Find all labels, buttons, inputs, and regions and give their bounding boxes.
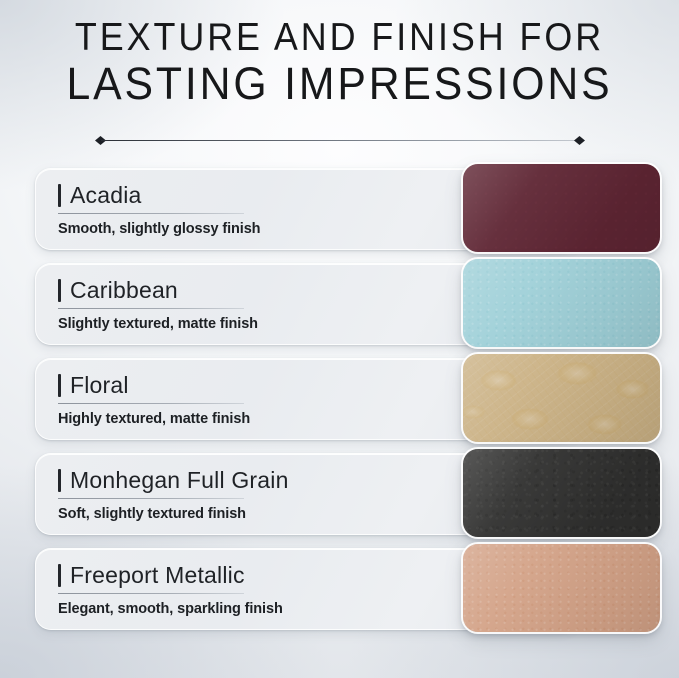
list-item: FloralHighly textured, matte finish: [0, 358, 679, 438]
list-item: CaribbeanSlightly textured, matte finish: [0, 263, 679, 343]
accent-bar-icon: [58, 279, 61, 302]
swatch-name: Freeport Metallic: [70, 562, 245, 589]
accent-bar-icon: [58, 184, 61, 207]
title-underline: [58, 498, 244, 499]
divider-rule: [101, 140, 579, 141]
swatch-list: AcadiaSmooth, slightly glossy finishCari…: [0, 168, 679, 643]
swatch-sheen-overlay: [463, 354, 660, 442]
freeport-metallic-rose-leather-swatch[interactable]: [463, 544, 660, 632]
accent-bar-icon: [58, 469, 61, 492]
list-item: AcadiaSmooth, slightly glossy finish: [0, 168, 679, 248]
swatch-sheen-overlay: [463, 544, 660, 632]
monhegan-full-grain-black-leather-swatch[interactable]: [463, 449, 660, 537]
page-title-line-2: LASTING IMPRESSIONS: [17, 61, 662, 108]
header: TEXTURE AND FINISH FOR LASTING IMPRESSIO…: [0, 18, 679, 107]
title-underline: [58, 403, 244, 404]
swatch-sheen-overlay: [463, 449, 660, 537]
diamond-right-icon: [574, 136, 585, 145]
swatch-sheen-overlay: [463, 259, 660, 347]
swatch-name: Floral: [70, 372, 129, 399]
accent-bar-icon: [58, 564, 61, 587]
swatch-name: Monhegan Full Grain: [70, 467, 289, 494]
title-underline: [58, 593, 244, 594]
accent-bar-icon: [58, 374, 61, 397]
acadia-burgundy-leather-swatch[interactable]: [463, 164, 660, 252]
infographic-canvas: TEXTURE AND FINISH FOR LASTING IMPRESSIO…: [0, 0, 679, 678]
swatch-name: Acadia: [70, 182, 142, 209]
swatch-name: Caribbean: [70, 277, 178, 304]
decorative-divider: [95, 136, 585, 146]
page-title-line-1: TEXTURE AND FINISH FOR: [27, 18, 652, 59]
title-underline: [58, 308, 244, 309]
list-item: Freeport MetallicElegant, smooth, sparkl…: [0, 548, 679, 628]
title-underline: [58, 213, 244, 214]
swatch-sheen-overlay: [463, 164, 660, 252]
list-item: Monhegan Full GrainSoft, slightly textur…: [0, 453, 679, 533]
caribbean-aqua-leather-swatch[interactable]: [463, 259, 660, 347]
floral-embossed-tan-leather-swatch[interactable]: [463, 354, 660, 442]
